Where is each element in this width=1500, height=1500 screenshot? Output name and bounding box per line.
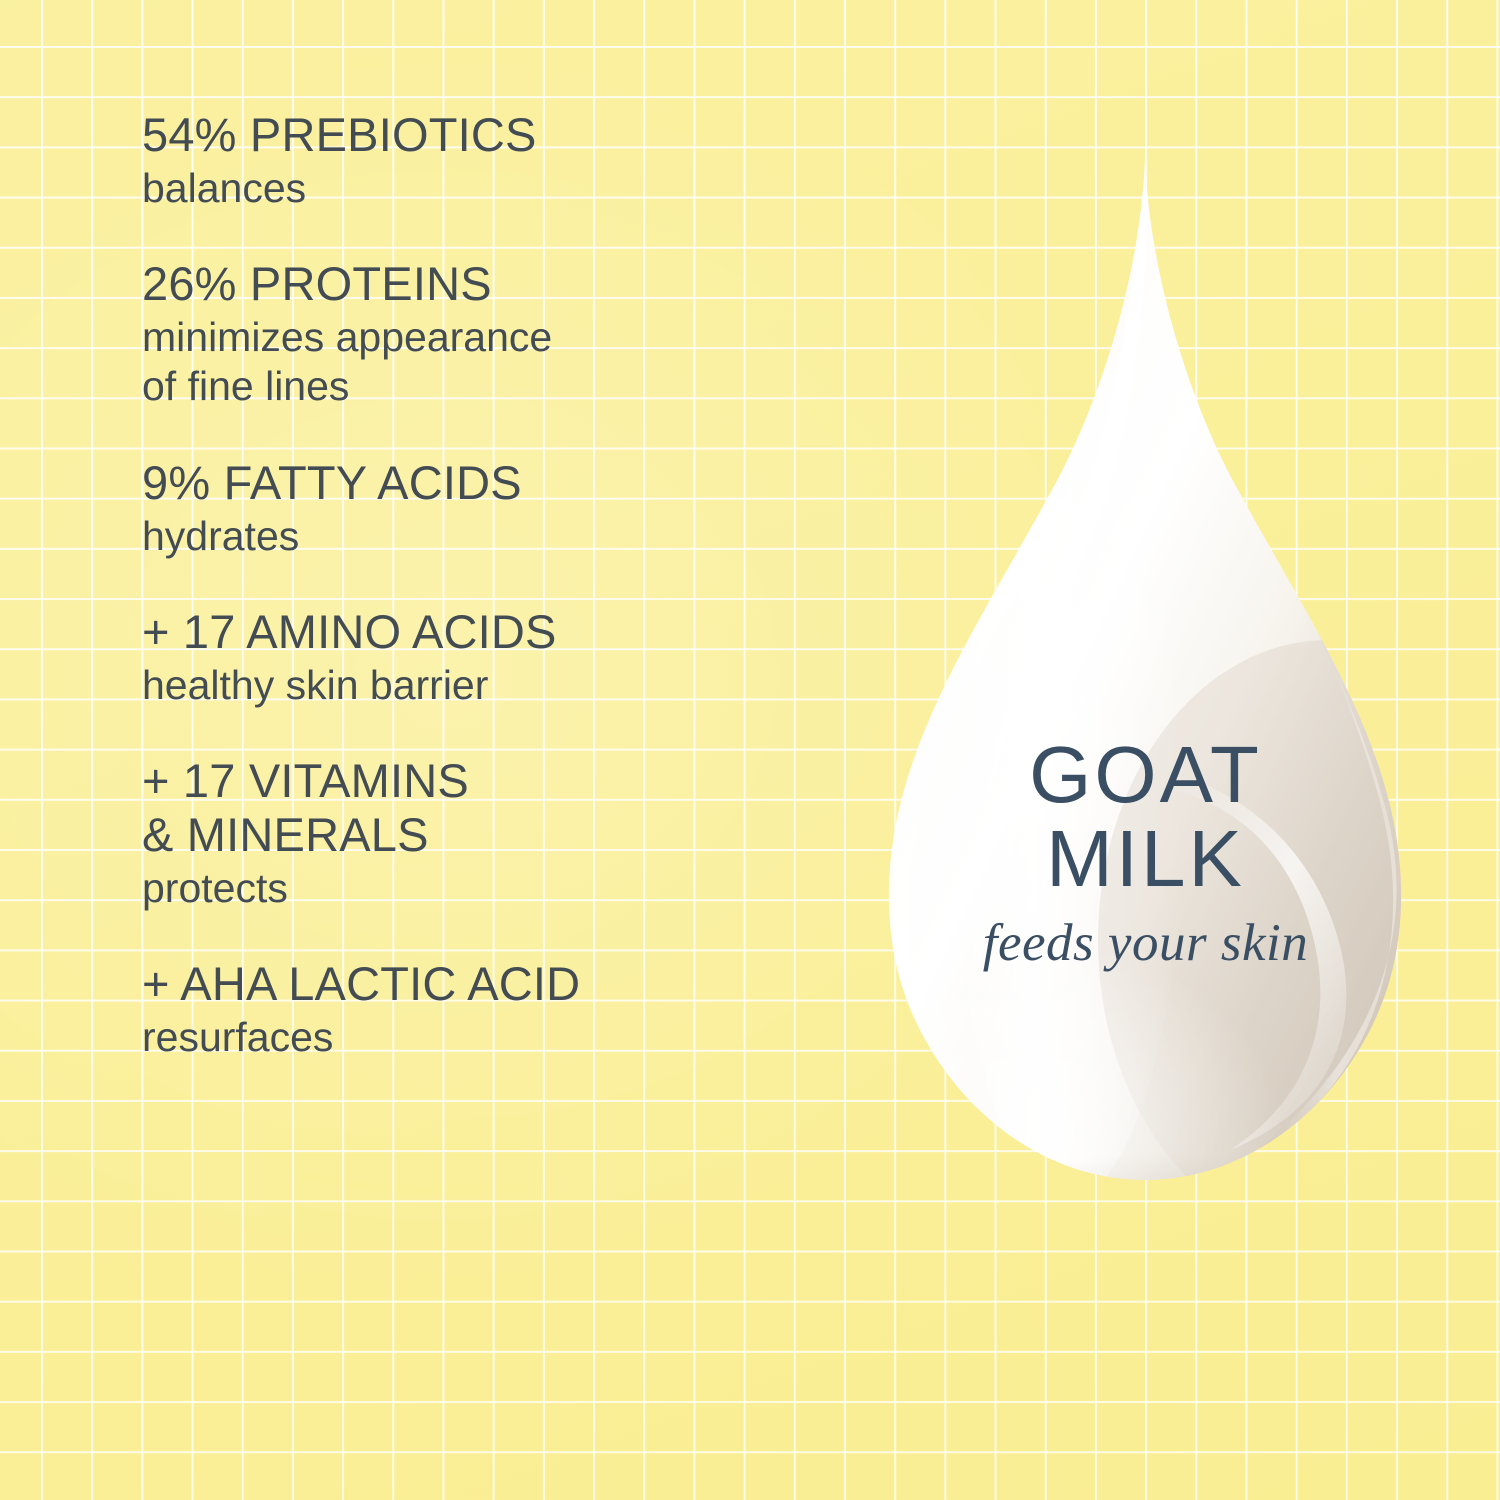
ingredient-item-amino-acids: + 17 AMINO ACIDS healthy skin barrier [142, 605, 842, 710]
ingredient-headline: 9% FATTY ACIDS [142, 456, 842, 510]
ingredient-benefit: resurfaces [142, 1013, 842, 1062]
drop-specular-highlight [963, 575, 1103, 845]
ingredient-headline: 54% PREBIOTICS [142, 108, 842, 162]
ingredient-headline: 26% PROTEINS [142, 257, 842, 311]
ingredient-headline: + 17 AMINO ACIDS [142, 605, 842, 659]
ingredient-headline: + 17 VITAMINS & MINERALS [142, 754, 842, 862]
ingredient-benefit: minimizes appearance of fine lines [142, 313, 842, 411]
ingredient-benefit: protects [142, 864, 842, 913]
ingredient-item-aha-lactic-acid: + AHA LACTIC ACID resurfaces [142, 957, 842, 1062]
ingredient-benefit: hydrates [142, 512, 842, 561]
ingredient-benefit: healthy skin barrier [142, 661, 842, 710]
ingredient-item-vitamins-minerals: + 17 VITAMINS & MINERALS protects [142, 754, 842, 913]
ingredient-list: 54% PREBIOTICS balances 26% PROTEINS min… [142, 108, 842, 1063]
ingredient-item-proteins: 26% PROTEINS minimizes appearance of fin… [142, 257, 842, 411]
milk-drop-graphic: GOAT MILK feeds your skin [858, 150, 1433, 1205]
milk-drop-icon [858, 150, 1433, 1205]
ingredient-headline: + AHA LACTIC ACID [142, 957, 842, 1011]
ingredient-item-fatty-acids: 9% FATTY ACIDS hydrates [142, 456, 842, 561]
ingredient-item-prebiotics: 54% PREBIOTICS balances [142, 108, 842, 213]
ingredient-benefit: balances [142, 164, 842, 213]
product-ingredient-poster: 54% PREBIOTICS balances 26% PROTEINS min… [0, 0, 1500, 1500]
